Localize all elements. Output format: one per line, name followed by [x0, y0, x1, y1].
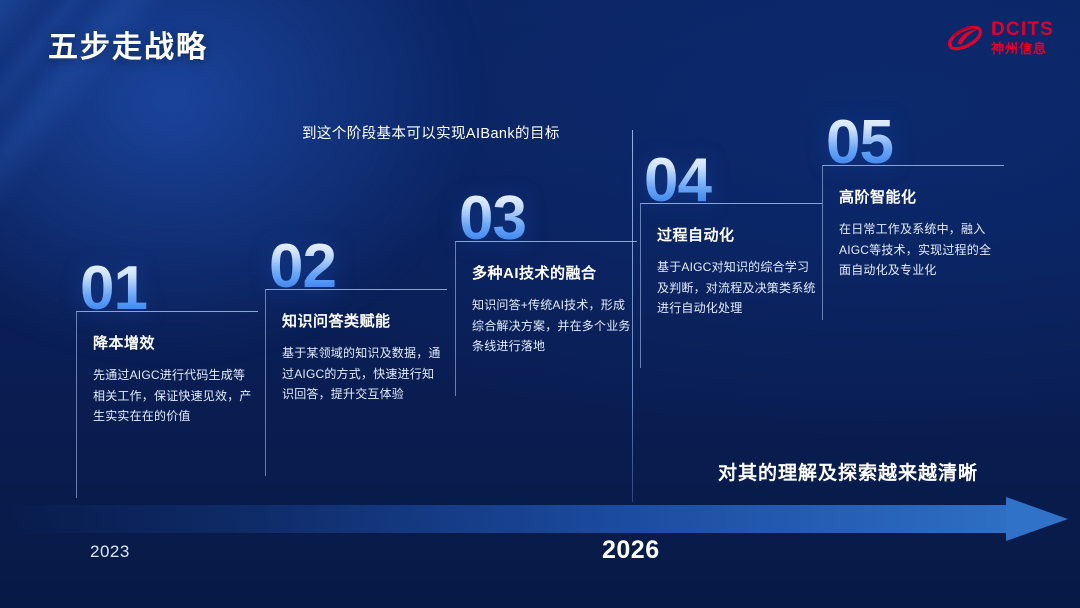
timeline-year-end: 2026 — [602, 536, 660, 565]
step-card-body: 过程自动化 基于AIGC对知识的综合学习及判断，对流程及决策类系统进行自动化处理 — [640, 203, 822, 368]
step-description: 基于某领域的知识及数据，通过AIGC的方式，快速进行知识回答，提升交互体验 — [282, 343, 441, 405]
slide-canvas: 五步走战略 DCITS 神州信息 到这个阶段基本可以实现AIBank的目标 01… — [0, 0, 1080, 608]
step-description: 知识问答+传统AI技术，形成综合解决方案，并在多个业务条线进行落地 — [472, 295, 631, 357]
page-title: 五步走战略 — [48, 22, 208, 66]
timeline-arrow — [0, 497, 1080, 541]
stage-annotation-text: 到这个阶段基本可以实现AIBank的目标 — [302, 126, 560, 142]
step-card-05[interactable]: 05 高阶智能化 在日常工作及系统中，融入AIGC等技术，实现过程的全面自动化及… — [822, 114, 1004, 320]
step-heading: 过程自动化 — [657, 224, 816, 245]
step-heading: 多种AI技术的融合 — [472, 262, 631, 283]
brand-logo: DCITS 神州信息 — [946, 20, 1054, 55]
step-card-body: 高阶智能化 在日常工作及系统中，融入AIGC等技术，实现过程的全面自动化及专业化 — [822, 165, 1004, 320]
logo-text-cn: 神州信息 — [991, 42, 1054, 55]
step-number: 03 — [459, 190, 637, 247]
step-card-body: 多种AI技术的融合 知识问答+传统AI技术，形成综合解决方案，并在多个业务条线进… — [455, 241, 637, 396]
timeline-year-start: 2023 — [90, 542, 130, 562]
step-description: 基于AIGC对知识的综合学习及判断，对流程及决策类系统进行自动化处理 — [657, 257, 816, 319]
stage-annotation: 到这个阶段基本可以实现AIBank的目标 — [302, 122, 560, 143]
step-card-body: 知识问答类赋能 基于某领域的知识及数据，通过AIGC的方式，快速进行知识回答，提… — [265, 289, 447, 476]
arrow-head-icon — [1006, 497, 1068, 541]
step-card-03[interactable]: 03 多种AI技术的融合 知识问答+传统AI技术，形成综合解决方案，并在多个业务… — [455, 190, 637, 396]
step-heading: 知识问答类赋能 — [282, 310, 441, 331]
step-heading: 降本增效 — [93, 332, 252, 353]
step-description: 在日常工作及系统中，融入AIGC等技术，实现过程的全面自动化及专业化 — [839, 219, 998, 281]
step-description: 先通过AIGC进行代码生成等相关工作，保证快速见效，产生实实在在的价值 — [93, 365, 252, 427]
step-number: 04 — [644, 152, 822, 209]
timeline-arrow-label: 对其的理解及探索越来越清晰 — [718, 458, 978, 485]
logo-text-en: DCITS — [991, 20, 1054, 39]
step-card-02[interactable]: 02 知识问答类赋能 基于某领域的知识及数据，通过AIGC的方式，快速进行知识回… — [265, 238, 447, 476]
step-number: 05 — [826, 114, 1004, 171]
arrow-shaft — [0, 505, 1012, 533]
step-number: 01 — [80, 260, 258, 317]
step-card-04[interactable]: 04 过程自动化 基于AIGC对知识的综合学习及判断，对流程及决策类系统进行自动… — [640, 152, 822, 368]
step-number: 02 — [269, 238, 447, 295]
dcits-swirl-icon — [946, 21, 984, 55]
step-card-01[interactable]: 01 降本增效 先通过AIGC进行代码生成等相关工作，保证快速见效，产生实实在在… — [76, 260, 258, 498]
step-heading: 高阶智能化 — [839, 186, 998, 207]
step-card-body: 降本增效 先通过AIGC进行代码生成等相关工作，保证快速见效，产生实实在在的价值 — [76, 311, 258, 498]
